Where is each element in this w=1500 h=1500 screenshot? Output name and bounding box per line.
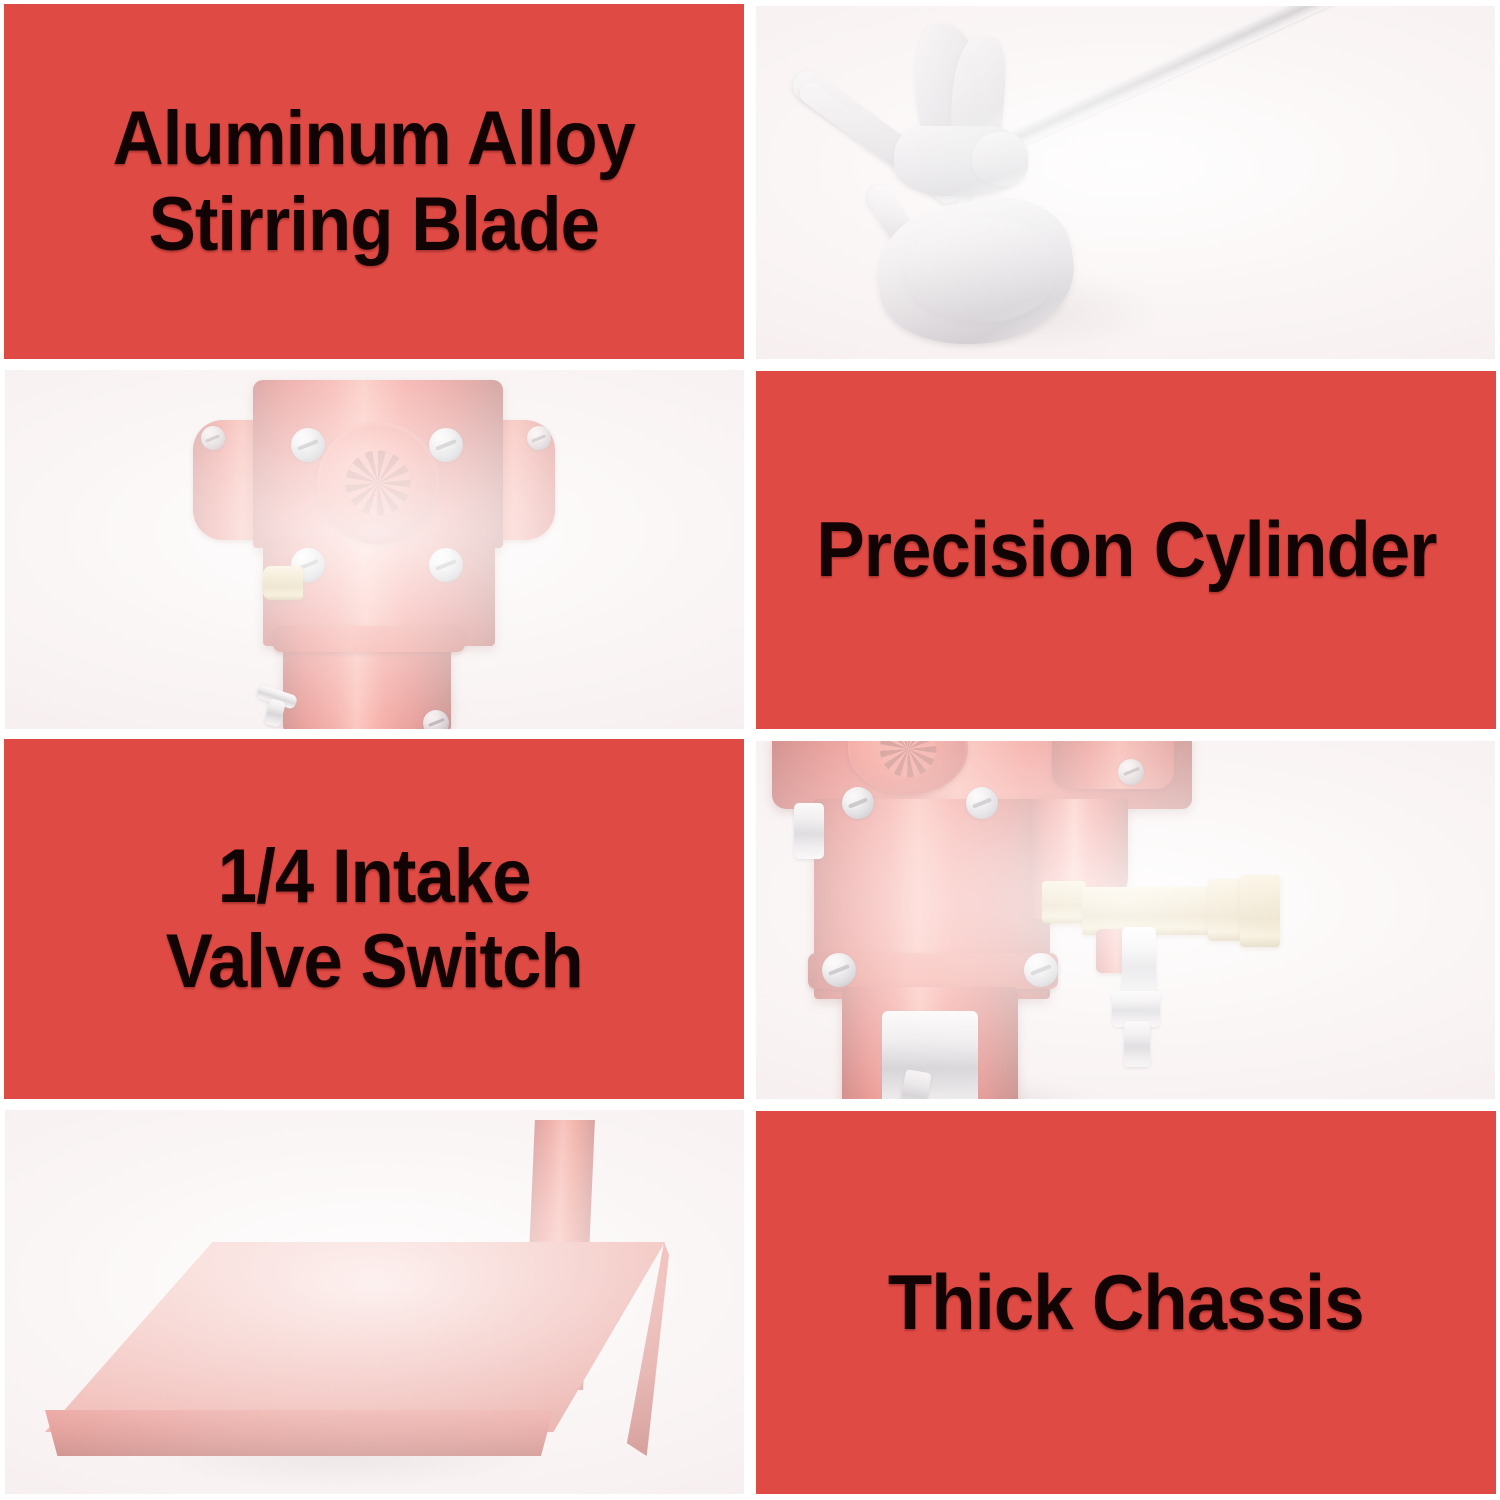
paddle-hub-collar [972, 132, 1028, 186]
cylinder-lug-bolt-right [527, 426, 551, 450]
valve-badge-emblem [870, 741, 947, 778]
caption-text-precision-cylinder: Precision Cylinder [816, 506, 1436, 593]
panel-1-caption-cell: Aluminum Alloy Stirring Blade [0, 0, 750, 365]
caption-panel-thick-chassis: Thick Chassis [756, 1111, 1496, 1494]
cylinder-bolt-lower [423, 710, 449, 729]
caption-text-aluminum-stirring-blade: Aluminum Alloy Stirring Blade [113, 96, 635, 266]
valve-switch-stem [1124, 1021, 1150, 1067]
cylinder-lug-bolt-left [201, 426, 225, 450]
intake-valve-illustration [756, 741, 1495, 1099]
valve-bolt-head-right [1118, 759, 1144, 785]
brass-intake-hex-nut [1208, 879, 1242, 941]
product-feature-infographic: Aluminum Alloy Stirring Blade [0, 0, 1500, 1500]
caption-text-intake-valve-switch: 1/4 Intake Valve Switch [165, 834, 582, 1004]
valve-bolt-lower-right [1024, 953, 1058, 987]
panel-3-caption-cell: 1/4 Intake Valve Switch [0, 735, 750, 1105]
valve-left-chrome-block [794, 803, 824, 859]
precision-cylinder-photo [5, 370, 744, 729]
intake-valve-switch-photo [756, 741, 1495, 1099]
panel-4-caption-cell: Thick Chassis [750, 1105, 1500, 1500]
valve-bolt-upper-left [842, 787, 874, 819]
cylinder-collar-ring [273, 626, 465, 652]
aluminum-stirring-blade-photo [756, 6, 1495, 359]
cylinder-brass-port [263, 566, 303, 600]
valve-bolt-lower-left [822, 953, 856, 987]
valve-head-right-lug [1052, 741, 1174, 789]
panel-2-photo-cell [0, 365, 750, 735]
brass-intake-collar [1042, 881, 1086, 923]
mixer-shaft [962, 6, 1495, 170]
caption-panel-precision-cylinder: Precision Cylinder [756, 371, 1496, 729]
precision-cylinder-illustration [5, 370, 744, 729]
valve-switch-lever [1122, 927, 1156, 1001]
panel-3-photo-cell [750, 735, 1500, 1105]
thick-chassis-illustration [5, 1110, 744, 1494]
valve-bolt-upper-right [966, 787, 998, 819]
valve-chrome-inner-tube [882, 1011, 978, 1099]
stirring-blade-illustration [756, 6, 1495, 359]
caption-panel-aluminum-stirring-blade: Aluminum Alloy Stirring Blade [4, 4, 744, 359]
brass-intake-end-fitting [1240, 875, 1280, 947]
panel-1-photo-cell [750, 0, 1500, 365]
cylinder-bolt-top-right [429, 428, 463, 462]
caption-text-thick-chassis: Thick Chassis [888, 1259, 1364, 1346]
thick-chassis-photo [5, 1110, 744, 1494]
cylinder-bolt-top-left [291, 428, 325, 462]
cylinder-bolt-bottom-right [429, 548, 463, 582]
caption-panel-intake-valve-switch: 1/4 Intake Valve Switch [4, 739, 744, 1099]
lower-blade-lobe-highlight [906, 218, 1056, 322]
panel-2-caption-cell: Precision Cylinder [750, 365, 1500, 735]
chassis-base-plate-top [45, 1242, 665, 1432]
panel-4-photo-cell [0, 1105, 750, 1500]
badge-gear-emblem [339, 444, 417, 522]
cylinder-embossed-badge [317, 422, 439, 544]
